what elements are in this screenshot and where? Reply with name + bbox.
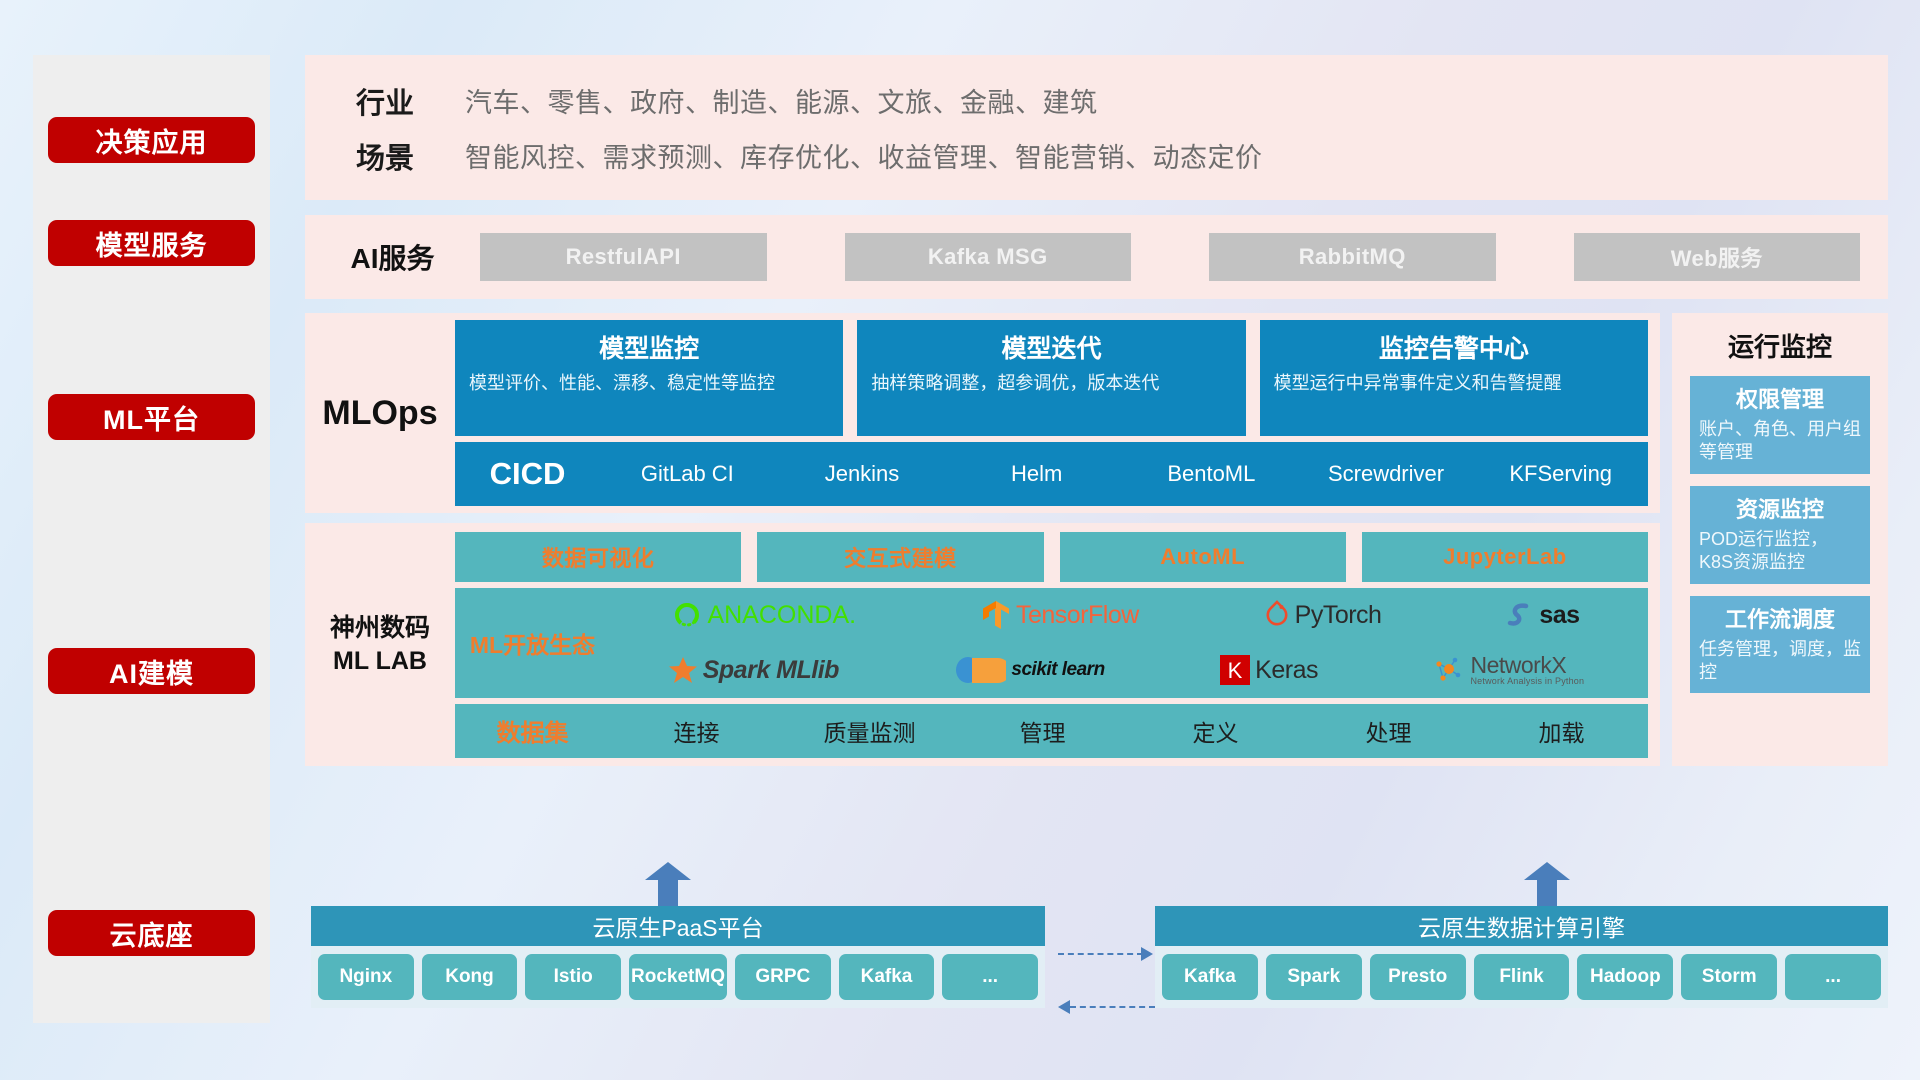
rail-chip-ai-modeling[interactable]: AI建模 xyxy=(48,648,255,694)
card-title: 模型监控 xyxy=(469,329,829,365)
rail-chip-label: 模型服务 xyxy=(96,224,208,263)
scikit-learn-wordmark: scikit learn xyxy=(1011,659,1104,681)
industry-row: 行业 汽车、零售、政府、制造、能源、文旅、金融、建筑 xyxy=(305,73,1888,128)
mlops-card-model-monitoring[interactable]: 模型监控 模型评价、性能、漂移、稳定性等监控 xyxy=(455,320,843,436)
monitor-card-workflow[interactable]: 工作流调度 任务管理，调度，监控 xyxy=(1690,596,1870,694)
networkx-logo: NetworkX Network Analysis in Python xyxy=(1433,654,1584,686)
sas-wordmark: sas xyxy=(1539,601,1579,630)
card-title: 工作流调度 xyxy=(1699,602,1861,634)
card-desc: POD运行监控，K8S资源监控 xyxy=(1699,528,1861,575)
cloud-chip-rocketmq[interactable]: RocketMQ xyxy=(629,954,727,1000)
rail-chip-decision[interactable]: 决策应用 xyxy=(48,117,255,163)
cloud-chip-istio[interactable]: Istio xyxy=(525,954,621,1000)
networkx-icon xyxy=(1433,655,1465,685)
scenario-value: 智能风控、需求预测、库存优化、收益管理、智能营销、动态定价 xyxy=(465,136,1263,175)
tensorflow-icon xyxy=(981,599,1011,631)
scikit-learn-logo: scikit learn xyxy=(954,654,1104,686)
pytorch-wordmark: PyTorch xyxy=(1295,601,1382,630)
card-desc: 任务管理，调度，监控 xyxy=(1699,638,1861,685)
mlops-label: MLOps xyxy=(305,394,455,433)
anaconda-icon xyxy=(672,600,702,630)
industry-key: 行业 xyxy=(305,80,465,122)
ai-service-band: AI服务 RestfulAPI Kafka MSG RabbitMQ Web服务 xyxy=(305,215,1888,299)
ecosystem-logo-row-1: ANACONDA. TensorFlow xyxy=(610,588,1642,643)
ecosystem-logo-row-2: Spark MLlib scikit learn xyxy=(610,643,1642,698)
cloud-paas-chip-list: Nginx Kong Istio RocketMQ GRPC Kafka ... xyxy=(311,946,1045,1008)
ml-open-ecosystem-label: ML开放生态 xyxy=(455,626,610,660)
keras-logo: K Keras xyxy=(1220,655,1318,685)
monitor-card-permission[interactable]: 权限管理 账户、角色、用户组等管理 xyxy=(1690,376,1870,474)
data-chip-more[interactable]: ... xyxy=(1785,954,1881,1000)
networkx-wordmark: NetworkX xyxy=(1470,654,1584,677)
pytorch-logo: PyTorch xyxy=(1264,600,1382,630)
arrow-up-data-engine xyxy=(1524,862,1570,906)
ai-service-chip-web[interactable]: Web服务 xyxy=(1574,233,1861,281)
spark-mllib-logo: Spark MLlib xyxy=(668,656,839,685)
mlops-card-model-iteration[interactable]: 模型迭代 抽样策略调整，超参调优，版本迭代 xyxy=(857,320,1245,436)
spark-star-icon xyxy=(668,656,698,684)
cicd-bar: CICD GitLab CI Jenkins Helm BentoML Scre… xyxy=(455,442,1648,506)
tensorflow-logo: TensorFlow xyxy=(981,599,1139,631)
industry-value: 汽车、零售、政府、制造、能源、文旅、金融、建筑 xyxy=(465,81,1098,120)
data-chip-presto[interactable]: Presto xyxy=(1370,954,1466,1000)
card-desc: 模型运行中异常事件定义和告警提醒 xyxy=(1274,372,1634,396)
cicd-item-gitlab-ci[interactable]: GitLab CI xyxy=(600,462,775,485)
card-title: 资源监控 xyxy=(1699,492,1861,524)
cicd-item-helm[interactable]: Helm xyxy=(949,462,1124,485)
dataset-item-define[interactable]: 定义 xyxy=(1129,714,1302,748)
dataset-bar: 数据集 连接 质量监测 管理 定义 处理 加载 xyxy=(455,704,1648,758)
cloud-chip-grpc[interactable]: GRPC xyxy=(735,954,831,1000)
card-title: 权限管理 xyxy=(1699,382,1861,414)
cloud-chip-kafka[interactable]: Kafka xyxy=(839,954,935,1000)
cloud-data-engine-chip-list: Kafka Spark Presto Flink Hadoop Storm ..… xyxy=(1155,946,1888,1008)
data-chip-hadoop[interactable]: Hadoop xyxy=(1577,954,1673,1000)
ai-service-chip-list: RestfulAPI Kafka MSG RabbitMQ Web服务 xyxy=(480,233,1888,281)
ai-service-chip-restfulapi[interactable]: RestfulAPI xyxy=(480,233,767,281)
tool-chip-jupyterlab[interactable]: JupyterLab xyxy=(1362,532,1648,582)
keras-icon: K xyxy=(1220,655,1250,685)
dataset-item-quality[interactable]: 质量监测 xyxy=(783,714,956,748)
cicd-item-bentoml[interactable]: BentoML xyxy=(1124,462,1299,485)
scenario-row: 场景 智能风控、需求预测、库存优化、收益管理、智能营销、动态定价 xyxy=(305,128,1888,183)
sas-icon xyxy=(1506,601,1534,629)
keras-wordmark: Keras xyxy=(1255,656,1318,685)
ml-lab-label-line2: ML LAB xyxy=(305,645,455,678)
ai-modeling-band: 神州数码 ML LAB 数据可视化 交互式建模 AutoML JupyterLa… xyxy=(305,523,1660,766)
scenario-key: 场景 xyxy=(305,135,465,177)
anaconda-logo: ANACONDA. xyxy=(672,600,856,630)
dataset-item-process[interactable]: 处理 xyxy=(1302,714,1475,748)
layer-rail: 决策应用 模型服务 ML平台 AI建模 云底座 xyxy=(33,55,270,1023)
ml-lab-label-line1: 神州数码 xyxy=(305,612,455,645)
rail-chip-ml-platform[interactable]: ML平台 xyxy=(48,394,255,440)
rail-chip-label: 云底座 xyxy=(110,914,194,953)
cloud-chip-more[interactable]: ... xyxy=(942,954,1038,1000)
rail-chip-label: 决策应用 xyxy=(96,121,208,160)
dataset-item-load[interactable]: 加载 xyxy=(1475,714,1648,748)
dataset-item-manage[interactable]: 管理 xyxy=(956,714,1129,748)
card-desc: 抽样策略调整，超参调优，版本迭代 xyxy=(871,372,1231,396)
dash-connector-right xyxy=(1058,953,1143,955)
data-chip-flink[interactable]: Flink xyxy=(1474,954,1570,1000)
runtime-monitor-title: 运行监控 xyxy=(1672,313,1888,364)
cloud-paas-title: 云原生PaaS平台 xyxy=(311,906,1045,946)
cloud-data-engine-title: 云原生数据计算引擎 xyxy=(1155,906,1888,946)
ai-service-chip-kafka-msg[interactable]: Kafka MSG xyxy=(845,233,1132,281)
cicd-item-screwdriver[interactable]: Screwdriver xyxy=(1299,462,1474,485)
modeling-tool-list: 数据可视化 交互式建模 AutoML JupyterLab xyxy=(455,532,1648,582)
rail-chip-label: ML平台 xyxy=(103,398,200,437)
card-title: 模型迭代 xyxy=(871,329,1231,365)
anaconda-wordmark: ANACONDA. xyxy=(707,601,856,630)
ml-open-ecosystem-box: ML开放生态 ANACONDA. xyxy=(455,588,1648,698)
rail-chip-label: AI建模 xyxy=(109,652,194,691)
cicd-title: CICD xyxy=(455,456,600,492)
cloud-data-engine-group: 云原生数据计算引擎 Kafka Spark Presto Flink Hadoo… xyxy=(1155,906,1888,1008)
ai-service-chip-rabbitmq[interactable]: RabbitMQ xyxy=(1209,233,1496,281)
sas-logo: sas xyxy=(1506,601,1579,630)
rail-chip-model-service[interactable]: 模型服务 xyxy=(48,220,255,266)
cloud-chip-nginx[interactable]: Nginx xyxy=(318,954,414,1000)
dataset-item-connect[interactable]: 连接 xyxy=(610,714,783,748)
tool-chip-interactive-modeling[interactable]: 交互式建模 xyxy=(757,532,1043,582)
cicd-item-kfserving[interactable]: KFServing xyxy=(1473,462,1648,485)
mlops-card-alert-center[interactable]: 监控告警中心 模型运行中异常事件定义和告警提醒 xyxy=(1260,320,1648,436)
scikit-learn-icon xyxy=(954,654,1006,686)
mlops-band: MLOps 模型监控 模型评价、性能、漂移、稳定性等监控 模型迭代 抽样策略调整… xyxy=(305,313,1660,513)
card-desc: 模型评价、性能、漂移、稳定性等监控 xyxy=(469,372,829,396)
card-title: 监控告警中心 xyxy=(1274,329,1634,365)
tool-chip-automl[interactable]: AutoML xyxy=(1060,532,1346,582)
cloud-paas-group: 云原生PaaS平台 Nginx Kong Istio RocketMQ GRPC… xyxy=(311,906,1045,1008)
spark-mllib-wordmark: Spark MLlib xyxy=(703,656,839,685)
dash-arrowhead-left xyxy=(1058,1000,1070,1014)
decision-applications-band: 行业 汽车、零售、政府、制造、能源、文旅、金融、建筑 场景 智能风控、需求预测、… xyxy=(305,55,1888,200)
runtime-monitor-band: 运行监控 权限管理 账户、角色、用户组等管理 资源监控 POD运行监控，K8S资… xyxy=(1672,313,1888,766)
networkx-tagline: Network Analysis in Python xyxy=(1470,677,1584,686)
ai-service-label: AI服务 xyxy=(305,237,480,277)
data-chip-storm[interactable]: Storm xyxy=(1681,954,1777,1000)
svg-text:K: K xyxy=(1228,658,1243,683)
ml-lab-label: 神州数码 ML LAB xyxy=(305,612,455,677)
dash-connector-left xyxy=(1070,1006,1155,1008)
data-chip-kafka[interactable]: Kafka xyxy=(1162,954,1258,1000)
data-chip-spark[interactable]: Spark xyxy=(1266,954,1362,1000)
cloud-chip-kong[interactable]: Kong xyxy=(422,954,518,1000)
dataset-title: 数据集 xyxy=(455,713,610,748)
monitor-card-resource[interactable]: 资源监控 POD运行监控，K8S资源监控 xyxy=(1690,486,1870,584)
tool-chip-data-visualization[interactable]: 数据可视化 xyxy=(455,532,741,582)
dash-arrowhead-right xyxy=(1141,947,1153,961)
mlops-card-list: 模型监控 模型评价、性能、漂移、稳定性等监控 模型迭代 抽样策略调整，超参调优，… xyxy=(455,320,1648,436)
cicd-item-jenkins[interactable]: Jenkins xyxy=(775,462,950,485)
pytorch-icon xyxy=(1264,600,1290,630)
tensorflow-wordmark: TensorFlow xyxy=(1016,601,1139,630)
card-desc: 账户、角色、用户组等管理 xyxy=(1699,418,1861,465)
arrow-up-paas xyxy=(645,862,691,906)
rail-chip-cloud-base[interactable]: 云底座 xyxy=(48,910,255,956)
